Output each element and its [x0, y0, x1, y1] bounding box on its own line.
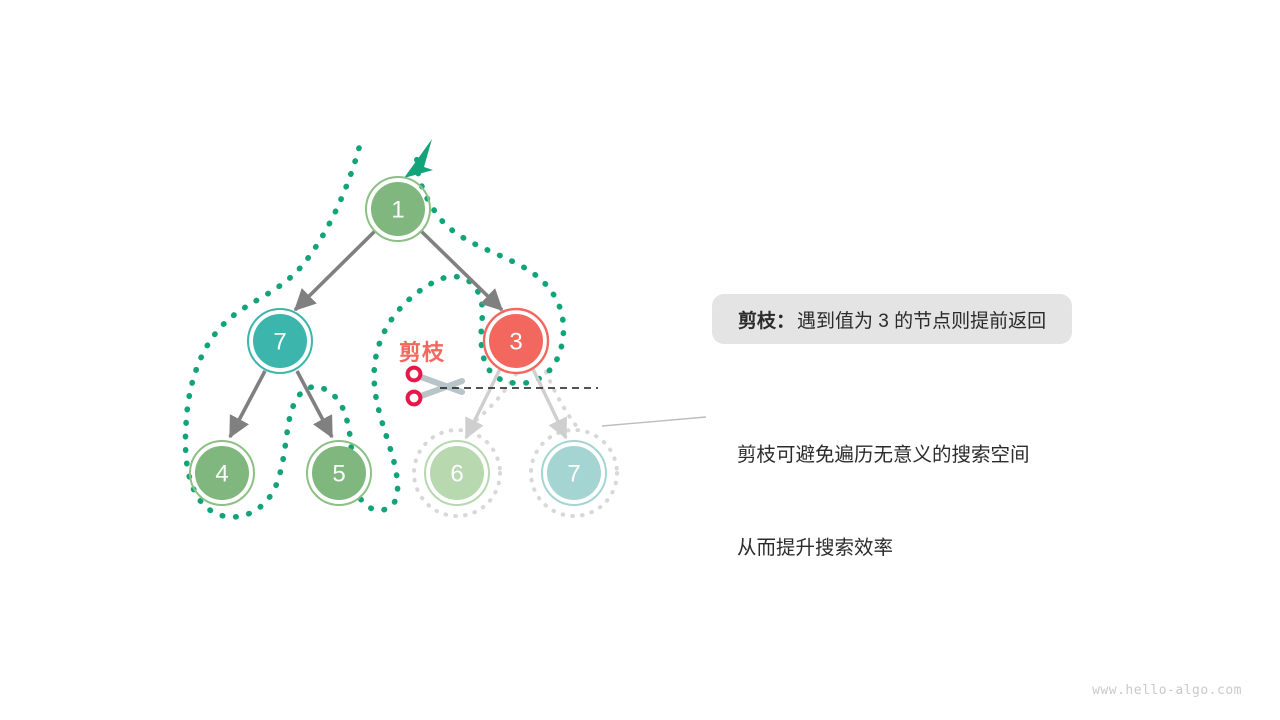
tree-diagram-svg: 1 7 3 4 5: [0, 0, 1280, 720]
edge-n1-n7l: [295, 231, 375, 310]
node-1-fill: [371, 182, 425, 236]
tree-node-3[interactable]: 3: [484, 309, 548, 373]
edge-n1-n3: [421, 231, 502, 310]
prune-note-line-2: 从而提升搜索效率: [737, 533, 1030, 564]
tree-node-4[interactable]: 4: [190, 441, 254, 505]
scissors-handle-upper: [408, 368, 421, 381]
edge-n7l-n4: [230, 371, 265, 437]
prune-label: 剪枝: [399, 335, 445, 367]
diagram-canvas: 1 7 3 4 5: [0, 0, 1280, 720]
badge-rest-text: 遇到值为 3 的节点则提前返回: [797, 306, 1046, 333]
note-leader-line: [602, 417, 706, 426]
node-4-fill: [195, 446, 249, 500]
edge-n3-n7r: [533, 369, 566, 438]
prune-explanation-badge: 剪枝： 遇到值为 3 的节点则提前返回: [712, 294, 1072, 344]
tree-node-7-right[interactable]: 7: [542, 441, 606, 505]
watermark: www.hello-algo.com: [1092, 683, 1242, 698]
traversal-arrow-head-icon: [404, 139, 433, 178]
edge-n3-n6: [466, 369, 500, 438]
node-7-right-fill: [547, 446, 601, 500]
prune-note: 剪枝可避免遍历无意义的搜索空间 从而提升搜索效率: [737, 378, 1030, 626]
scissors-handle-lower: [408, 392, 421, 405]
node-3-fill: [489, 314, 543, 368]
tree-node-1[interactable]: 1: [366, 177, 430, 241]
edge-n7l-n5: [297, 371, 332, 437]
tree-nodes: 1 7 3 4 5: [190, 177, 606, 505]
node-6-fill: [430, 446, 484, 500]
halo-branch-right: [546, 372, 578, 428]
node-5-fill: [312, 446, 366, 500]
tree-node-6[interactable]: 6: [425, 441, 489, 505]
scissors-icon: [408, 368, 462, 405]
pruned-edges: [466, 369, 566, 438]
prune-note-line-1: 剪枝可避免遍历无意义的搜索空间: [737, 440, 1030, 471]
tree-node-5[interactable]: 5: [307, 441, 371, 505]
tree-node-7-left[interactable]: 7: [248, 309, 312, 373]
badge-strong-text: 剪枝：: [738, 306, 795, 333]
node-7-left-fill: [253, 314, 307, 368]
